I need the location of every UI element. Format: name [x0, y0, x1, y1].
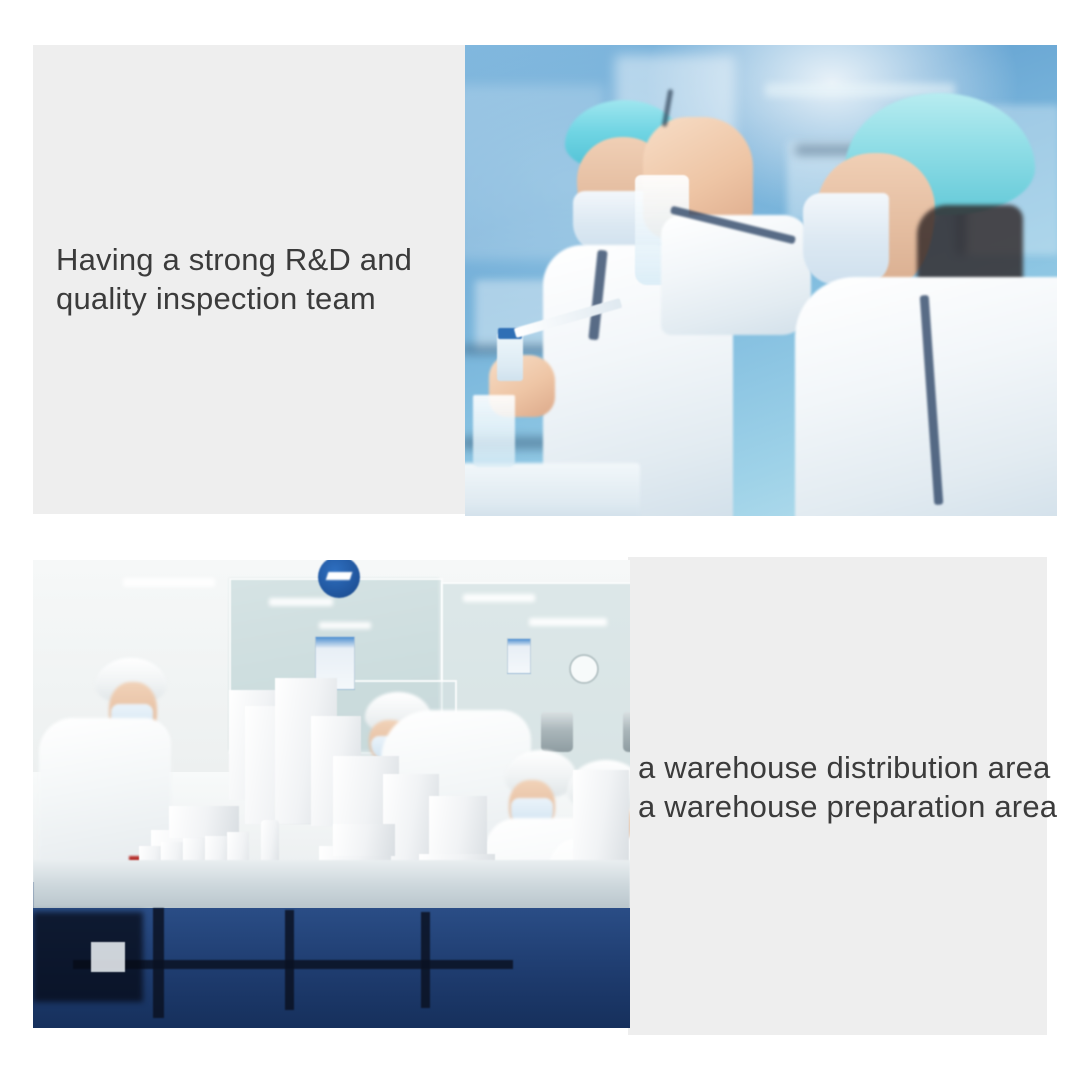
- ceiling-light-3: [319, 622, 371, 629]
- rnd-caption: Having a strong R&D and quality inspecti…: [56, 240, 412, 318]
- beaker: [473, 395, 515, 467]
- steel-pot-right: [623, 712, 630, 752]
- right-worker-mask: [803, 193, 889, 285]
- box-stack-far-right: [573, 770, 629, 870]
- warehouse-caption: a warehouse distribution area a warehous…: [638, 748, 1057, 826]
- ceiling-light-5: [529, 618, 607, 626]
- packing-table-top: [33, 860, 630, 912]
- ceiling-light-2: [269, 598, 333, 606]
- wall-clock: [569, 654, 599, 684]
- left-worker-vial: [497, 333, 523, 381]
- warehouse-packing-photo: [33, 560, 630, 1028]
- paper-under-table: [91, 942, 125, 972]
- steel-pot-left: [541, 712, 573, 752]
- ceiling-light-1: [123, 578, 215, 587]
- table-shadow-under: [33, 912, 143, 1002]
- rnd-lab-photo: [465, 45, 1057, 516]
- warehouse-caption-line-1: a warehouse distribution area: [638, 748, 1057, 787]
- ceiling-light-4: [463, 594, 535, 602]
- collage-board: Having a strong R&D and quality inspecti…: [0, 0, 1080, 1080]
- rnd-caption-line-2: quality inspection team: [56, 279, 412, 318]
- rnd-caption-line-1: Having a strong R&D and: [56, 240, 412, 279]
- box-stack-front-2: [333, 824, 395, 856]
- raised-arm-sleeve: [661, 215, 811, 335]
- warehouse-caption-line-2: a warehouse preparation area: [638, 787, 1057, 826]
- lab-bench-front: [465, 463, 640, 516]
- wall-placard-right: [507, 638, 531, 674]
